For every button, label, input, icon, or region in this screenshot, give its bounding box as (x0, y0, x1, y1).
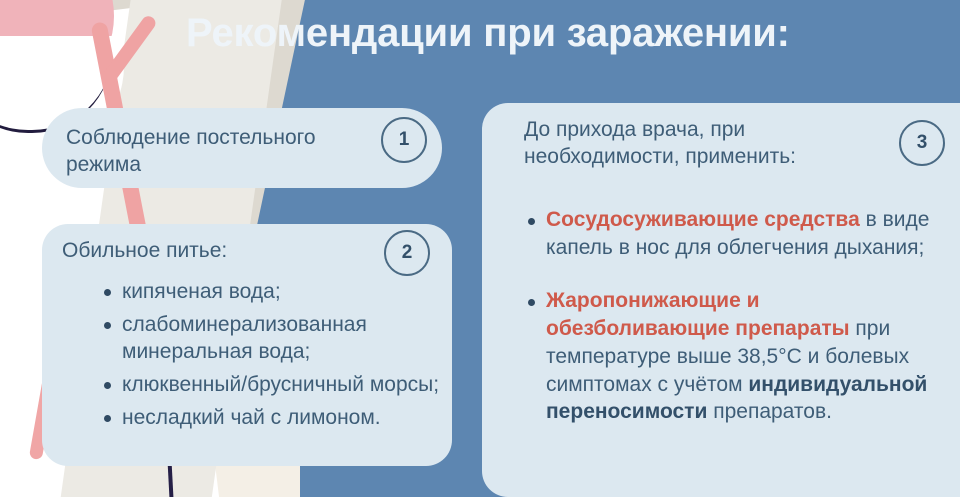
card-2-number-badge: 2 (384, 230, 430, 276)
list-item: клюквенный/брусничный морсы; (100, 371, 450, 399)
card-3-list: Сосудосуживающие средства в виде капель … (524, 206, 944, 452)
infographic-slide: Рекомендации при заражении: Соблюдение п… (0, 0, 960, 497)
list-item: слабоминерализованная минеральная вода; (100, 311, 450, 366)
page-title: Рекомендации при заражении: (186, 10, 946, 56)
list-item-tail: препаратов. (707, 400, 832, 423)
list-item: Жаропонижающие и обезболивающие препарат… (524, 287, 944, 426)
list-item-highlight: Жаропонижающие и обезболивающие препарат… (546, 289, 850, 340)
card-2-heading: Обильное питье: (62, 238, 382, 265)
list-item: несладкий чай с лимоном. (100, 404, 450, 432)
recommendation-card-3: До прихода врача, при необходимости, при… (482, 103, 960, 497)
list-item: Сосудосуживающие средства в виде капель … (524, 206, 944, 261)
card-3-number-badge: 3 (899, 120, 945, 166)
card-1-number-badge: 1 (381, 117, 427, 163)
card-2-list: кипяченая вода; слабоминерализованная ми… (100, 278, 450, 437)
card-3-heading: До прихода врача, при необходимости, при… (524, 117, 864, 171)
card-1-heading: Соблюдение постельного режима (66, 125, 396, 179)
list-item-highlight: Сосудосуживающие средства (546, 208, 860, 231)
list-item: кипяченая вода; (100, 278, 450, 306)
